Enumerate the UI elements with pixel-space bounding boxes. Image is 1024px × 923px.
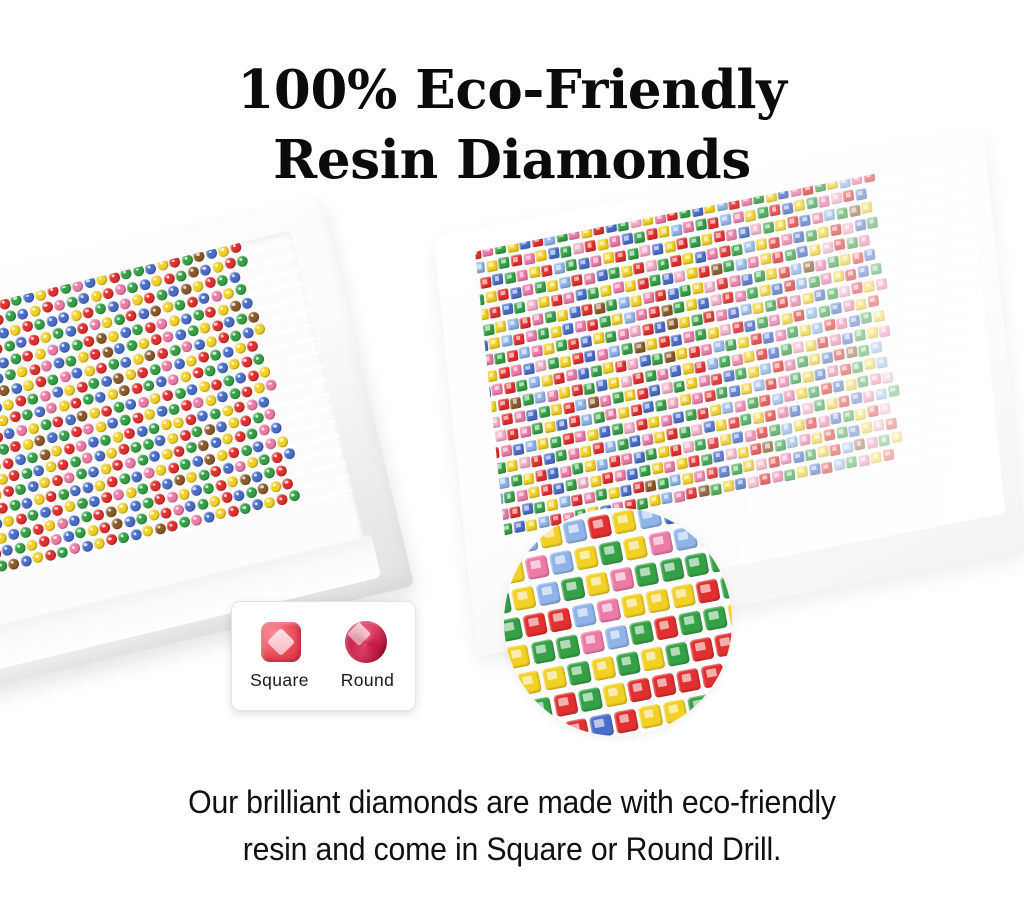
drill-blue — [797, 245, 809, 258]
drill-red — [562, 432, 574, 445]
drill-green — [612, 391, 624, 404]
drill-green — [498, 256, 510, 269]
drill-yellow — [686, 377, 698, 390]
drill-red — [685, 487, 697, 500]
drill-yellow — [485, 290, 497, 303]
drill-yellow — [488, 337, 500, 350]
drill-red — [713, 230, 725, 243]
round-label: Round — [337, 670, 399, 691]
drill-blue — [723, 369, 735, 382]
caption-line-1: Our brilliant diamonds are made with eco… — [188, 784, 836, 820]
drill-pink — [612, 281, 624, 294]
drill-brown — [52, 240, 65, 253]
drill-blue — [830, 302, 842, 315]
drill-red — [867, 404, 879, 417]
drill-blue — [100, 231, 113, 241]
drill-red — [76, 234, 89, 247]
drill-blue — [40, 243, 53, 256]
drill-yellow — [495, 320, 507, 333]
drill-blue — [713, 450, 725, 463]
drill-red — [833, 348, 845, 361]
drill-light_blue — [559, 276, 571, 289]
drill-blue — [857, 265, 869, 278]
drill-green — [756, 316, 768, 329]
drill-pink — [525, 329, 537, 342]
drill-blue — [851, 392, 863, 405]
drill-green — [790, 372, 802, 385]
drill-red — [498, 366, 510, 379]
drill-light_pink — [535, 359, 547, 372]
drill-yellow — [727, 601, 732, 627]
drill-red — [632, 481, 644, 494]
drill-green — [887, 385, 899, 398]
drill-red — [602, 471, 614, 484]
drill-pink — [777, 406, 789, 419]
drill-blue — [596, 269, 608, 282]
drill-yellow — [870, 451, 882, 464]
drill-light_blue — [483, 213, 495, 226]
drill-light_pink — [518, 456, 530, 469]
drill-yellow — [743, 460, 755, 473]
square-drill-icon — [261, 622, 301, 662]
drill-yellow — [864, 358, 876, 371]
drill-green — [857, 375, 869, 388]
drill-yellow — [559, 386, 571, 399]
drill-red — [750, 333, 762, 346]
drill-red — [27, 245, 40, 258]
drill-yellow — [539, 723, 565, 736]
drill-pink — [683, 330, 695, 343]
drill-red — [713, 632, 732, 658]
drill-light_blue — [706, 357, 718, 370]
drill-yellow — [793, 199, 805, 212]
drill-yellow — [711, 689, 732, 715]
drill-red — [646, 228, 658, 241]
drill-blue — [596, 378, 608, 391]
drill-red — [820, 382, 832, 395]
drill-yellow — [489, 196, 501, 209]
drill-light_blue — [824, 209, 836, 222]
drill-blue — [492, 273, 504, 286]
drill-blue — [501, 303, 513, 316]
drill-green — [565, 479, 577, 492]
drill-green — [716, 386, 728, 399]
drill-light_blue — [528, 376, 540, 389]
drill-blue — [854, 218, 866, 231]
drill-yellow — [861, 201, 873, 214]
legend-gems — [232, 618, 415, 666]
drill-light_blue — [498, 476, 510, 489]
drill-brown — [666, 318, 678, 331]
drill-red — [724, 658, 732, 684]
drill-red — [759, 472, 771, 485]
drill-yellow — [64, 237, 77, 250]
drill-blue — [599, 425, 611, 438]
drill-green — [780, 343, 792, 356]
drill-light_blue — [609, 345, 621, 358]
drill-red — [666, 428, 678, 441]
drill-yellow — [817, 445, 829, 458]
drill-light_blue — [833, 458, 845, 471]
drill-green — [565, 259, 577, 272]
drill-yellow — [3, 252, 16, 265]
drill-blue — [814, 289, 826, 302]
drill-green — [860, 311, 872, 324]
square-label: Square — [249, 670, 311, 691]
drill-green — [15, 249, 28, 262]
drill-red — [793, 309, 805, 322]
drill-green — [747, 286, 759, 299]
drill-yellow — [722, 479, 734, 492]
drill-yellow — [125, 231, 138, 236]
drill-yellow — [592, 332, 604, 345]
drill-pink — [113, 231, 126, 239]
drill-yellow — [528, 486, 540, 499]
drill-light_pink — [495, 429, 507, 442]
drill-red — [783, 279, 795, 292]
drill-pink — [683, 220, 695, 233]
drill-blue — [544, 201, 556, 214]
drill-yellow — [793, 419, 805, 432]
drill-pink — [783, 389, 795, 402]
caption-line-2: resin and come in Square or Round Drill. — [36, 826, 988, 873]
drill-light_blue — [743, 240, 755, 253]
drill-green — [599, 315, 611, 328]
drill-green — [740, 413, 752, 426]
drill-blue — [642, 401, 654, 414]
drill-pink — [0, 254, 4, 267]
drill-brown — [854, 438, 866, 451]
drill-pink — [605, 408, 617, 421]
drill-yellow — [529, 266, 541, 279]
round-drill-icon — [345, 621, 387, 663]
drill-red — [823, 428, 835, 441]
drill-light_blue — [669, 474, 681, 487]
drill-light_blue — [790, 262, 802, 275]
drill-light_pink — [750, 223, 762, 236]
drill-yellow — [709, 403, 721, 416]
drill-yellow — [535, 249, 547, 262]
drill-pink — [642, 291, 654, 304]
drill-green — [796, 355, 808, 368]
drill-green — [719, 574, 732, 600]
drill-green — [475, 200, 477, 213]
drill-light_blue — [740, 303, 752, 316]
drill-light_pink — [719, 323, 731, 336]
drill-blue — [830, 411, 842, 424]
product-banner: 100% Eco-Friendly Resin Diamonds Square … — [0, 0, 1024, 923]
drill-green — [89, 232, 102, 245]
drill-pink — [532, 312, 544, 325]
drill-blue — [673, 411, 685, 424]
drill-green — [649, 274, 661, 287]
drill-red — [756, 426, 768, 439]
drill-blue — [588, 713, 614, 736]
drill-green — [645, 447, 657, 460]
drill-yellow — [817, 226, 829, 239]
drill-green — [538, 405, 550, 418]
drill-pink — [827, 365, 839, 378]
drill-red — [137, 231, 150, 232]
drill-green — [679, 284, 691, 297]
drill-yellow — [646, 337, 658, 350]
drill-yellow — [860, 421, 872, 434]
drill-light_blue — [870, 341, 882, 354]
drill-red — [563, 718, 589, 736]
drill-pink — [706, 247, 718, 260]
drill-red — [514, 728, 540, 736]
drill-light_blue — [558, 496, 570, 509]
drill-red — [750, 443, 762, 456]
drill-red — [703, 311, 715, 324]
closeup-drill-rows — [504, 508, 732, 736]
drill-yellow — [686, 267, 698, 280]
drill-yellow — [719, 433, 731, 446]
drill-green — [532, 203, 544, 216]
drill-yellow — [743, 350, 755, 363]
drill-green — [606, 298, 618, 311]
drill-yellow — [507, 208, 519, 221]
drill-light_pink — [629, 325, 641, 338]
drill-yellow — [649, 494, 661, 507]
drill-yellow — [538, 295, 550, 308]
drill-light_blue — [759, 362, 771, 375]
drill-green — [475, 215, 482, 228]
drill-red — [501, 413, 513, 426]
drill-green — [555, 449, 567, 462]
drill-red — [824, 318, 836, 331]
drill-pink — [565, 369, 577, 382]
drill-light_blue — [519, 346, 531, 359]
drill-pink — [491, 383, 503, 396]
drill-yellow — [891, 431, 903, 444]
drill-light_blue — [575, 398, 587, 411]
drill-red — [592, 442, 604, 455]
drill-green — [723, 260, 735, 273]
drill-red — [787, 216, 799, 229]
drill-green — [532, 422, 544, 435]
drill-green — [787, 326, 799, 339]
drill-yellow — [760, 252, 772, 265]
drill-blue — [575, 288, 587, 301]
drill-yellow — [676, 457, 688, 470]
drill-pink — [636, 308, 648, 321]
drill-yellow — [676, 347, 688, 360]
drill-light_pink — [572, 242, 584, 255]
drill-yellow — [602, 362, 614, 375]
drill-green — [595, 488, 607, 501]
caption: Our brilliant diamonds are made with eco… — [36, 779, 988, 873]
drill-light_pink — [710, 294, 722, 307]
drill-yellow — [679, 394, 691, 407]
drill-shape-legend-card[interactable]: Square Round — [231, 601, 416, 711]
drill-yellow — [796, 465, 808, 478]
legend-labels: Square Round — [232, 670, 415, 691]
drill-pink — [820, 272, 832, 285]
drill-red — [706, 467, 718, 480]
drill-green — [746, 396, 758, 409]
drill-light_pink — [569, 195, 581, 208]
drill-green — [673, 301, 685, 314]
square-drill-closeup-inset — [504, 508, 732, 736]
drill-green — [854, 328, 866, 341]
drill-pink — [609, 235, 621, 248]
drill-red — [670, 254, 682, 267]
drill-pink — [780, 233, 792, 246]
drill-blue — [703, 420, 715, 433]
drill-blue — [562, 322, 574, 335]
drill-green — [572, 462, 584, 475]
drill-red — [608, 454, 620, 467]
drill-red — [867, 294, 879, 307]
drill-red — [572, 352, 584, 365]
drill-light_blue — [786, 436, 798, 449]
drill-red — [633, 261, 645, 274]
drill-red — [636, 418, 648, 431]
drill-red — [833, 238, 845, 251]
drill-blue — [649, 384, 661, 397]
drill-light_blue — [753, 379, 765, 392]
drill-green — [639, 464, 651, 477]
drill-green — [522, 393, 534, 406]
headline-line-1: 100% Eco-Friendly — [237, 59, 786, 121]
drill-light_blue — [713, 340, 725, 353]
drill-light_pink — [682, 440, 694, 453]
drill-red — [777, 296, 789, 309]
drill-yellow — [557, 199, 569, 212]
drill-red — [851, 282, 863, 295]
drill-red — [676, 237, 688, 250]
drill-light_pink — [830, 192, 842, 205]
drill-red — [632, 371, 644, 384]
drill-pink — [522, 283, 534, 296]
drill-blue — [639, 354, 651, 367]
drill-red — [721, 516, 732, 542]
drill-red — [520, 206, 532, 219]
drill-red — [535, 469, 547, 482]
drill-yellow — [602, 252, 614, 265]
drill-blue — [669, 364, 681, 377]
drill-light_blue — [477, 198, 489, 211]
drill-pink — [495, 210, 507, 223]
drill-green — [757, 206, 769, 219]
drill-light_blue — [525, 439, 537, 452]
drill-light_blue — [720, 213, 732, 226]
drill-blue — [569, 305, 581, 318]
drill-red — [716, 277, 728, 290]
drill-red — [568, 415, 580, 428]
drill-green — [827, 255, 839, 268]
drill-green — [555, 339, 567, 352]
drill-blue — [864, 248, 876, 261]
drill-pink — [780, 452, 792, 465]
drill-red — [817, 335, 829, 348]
drill-green — [814, 399, 826, 412]
drill-blue — [629, 435, 641, 448]
drill-light_pink — [639, 245, 651, 258]
drill-green — [753, 269, 765, 282]
